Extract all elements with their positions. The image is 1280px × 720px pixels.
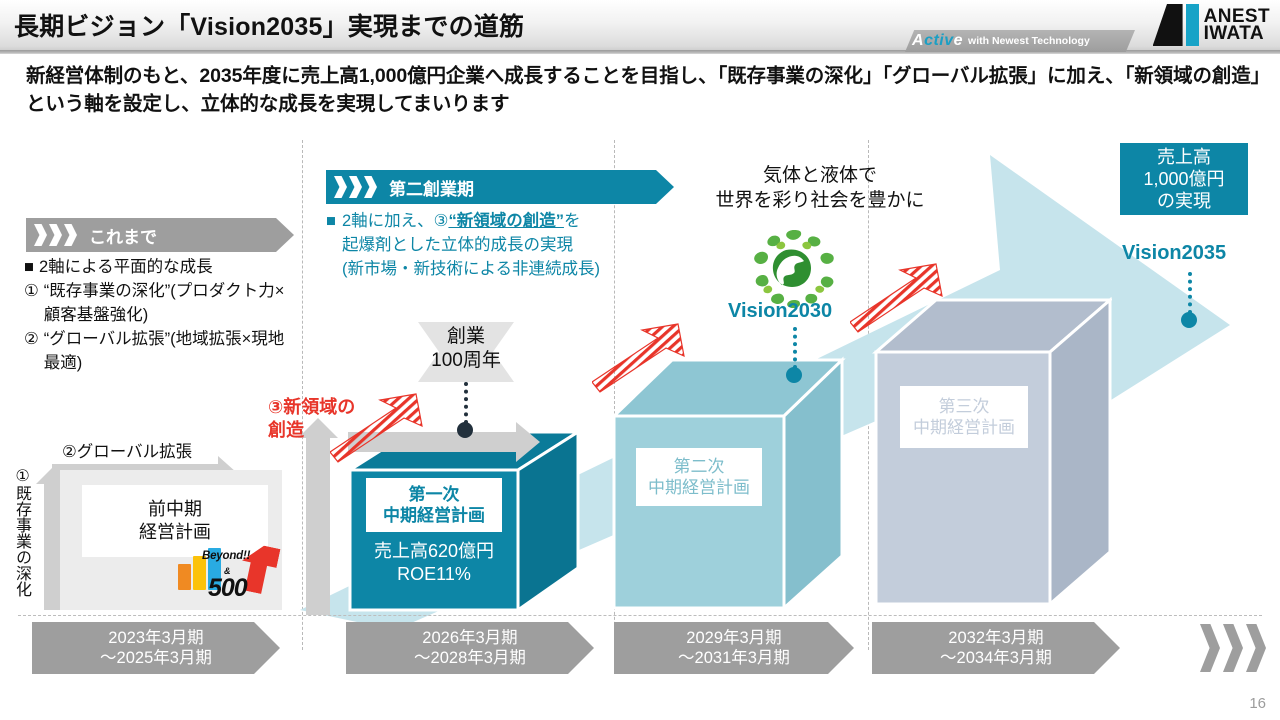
beyond500-number: 500 xyxy=(208,574,247,603)
tagline: Active with Newest Technology xyxy=(912,31,1132,51)
tagline-active-text: Active xyxy=(912,32,963,50)
bullet-mark: ■ xyxy=(326,210,336,282)
anniversary-callout: 創業 100周年 xyxy=(400,325,532,373)
page-title: 長期ビジョン「Vision2035」実現までの道筋 xyxy=(14,7,524,43)
bullet-text: “グローバル拡張”(地域拡張×現地最適) xyxy=(44,328,300,375)
future-bullet-line3: (新市場・新技術による非連続成長) xyxy=(342,260,600,278)
bullet-mark: ② xyxy=(24,328,39,375)
second-founding-banner: 第二創業期 xyxy=(326,170,674,204)
timeline-line2: ～2028年3月期 xyxy=(414,648,526,668)
slide-root: 長期ビジョン「Vision2035」実現までの道筋 Active with Ne… xyxy=(0,0,1280,720)
past-bullet-2: ② “グローバル拡張”(地域拡張×現地最適) xyxy=(24,328,300,375)
past-bullet-list: ■ 2軸による平面的な成長 ① “既存事業の深化”(プロダクト力×顧客基盤強化)… xyxy=(24,256,300,376)
plan1-roe: ROE11% xyxy=(397,564,471,584)
future-bullet-line1b: “新領域の創造” xyxy=(448,212,564,230)
new-domain-label: ③新領域の 創造 xyxy=(268,396,398,441)
anniversary-line2: 100周年 xyxy=(431,350,501,371)
timeline-line2: ～2034年3月期 xyxy=(940,648,1052,668)
new-domain-label-text: ③新領域の 創造 xyxy=(268,397,355,440)
new-domain-arrow-icon-2 xyxy=(592,322,686,394)
timeline-item-0: 2023年3月期 ～2025年3月期 xyxy=(32,622,280,674)
plan1-metrics: 売上高620億円 ROE11% xyxy=(346,540,522,587)
slide-subtitle: 新経営体制のもと、2035年度に売上高1,000億円企業へ成長することを目指し、… xyxy=(26,63,1266,118)
plan1-revenue: 売上高620億円 xyxy=(374,541,494,561)
previous-plan-line1: 前中期 xyxy=(148,498,202,521)
plan3-box: 第三次 中期経営計画 xyxy=(872,296,1112,612)
plan3-label: 第三次 中期経営計画 xyxy=(900,386,1028,448)
bullet-mark: ■ xyxy=(24,256,34,279)
slogan-text: 気体と液体で 世界を彩り社会を豊かに xyxy=(690,163,950,213)
previous-plan-line2: 経営計画 xyxy=(139,521,211,544)
bullet-text: 2軸による平面的な成長 xyxy=(39,256,300,279)
axis-growth-up-bar xyxy=(306,430,330,615)
timeline-line1: 2032年3月期 xyxy=(948,628,1043,648)
timeline-item-1: 2026年3月期 ～2028年3月期 xyxy=(346,622,594,674)
timeline-line1: 2023年3月期 xyxy=(108,628,203,648)
vision2035-dot xyxy=(1181,312,1197,328)
plan2-title-line1: 第二次 xyxy=(674,456,725,477)
past-era-banner: これまで xyxy=(26,218,294,252)
goal-badge: 売上高 1,000億円 の実現 xyxy=(1120,143,1248,215)
future-bullet-line1a: 2軸に加え、③ xyxy=(342,212,448,230)
future-bullet-line2: 起爆剤とした立体的成長の実現 xyxy=(342,236,573,254)
plan1-label: 第一次 中期経営計画 xyxy=(366,478,502,532)
bullet-mark: ① xyxy=(24,280,39,327)
plan2-title-line2: 中期経営計画 xyxy=(648,477,750,498)
timeline-item-3: 2032年3月期 ～2034年3月期 xyxy=(872,622,1120,674)
vision2030-label: Vision2030 xyxy=(728,300,832,323)
timeline-item-2: 2029年3月期 ～2031年3月期 xyxy=(614,622,854,674)
logo-text-line2: IWATA xyxy=(1204,25,1270,42)
plan3-title-line1: 第三次 xyxy=(939,396,990,417)
plan3-title-line2: 中期経営計画 xyxy=(913,417,1015,438)
second-founding-bullets: ■ 2軸に加え、③“新領域の創造”を 起爆剤とした立体的成長の実現 (新市場・新… xyxy=(326,210,694,282)
anniversary-dot xyxy=(457,422,473,438)
second-founding-label: 第二創業期 xyxy=(389,175,474,200)
past-bullet-1: ① “既存事業の深化”(プロダクト力×顧客基盤強化) xyxy=(24,280,300,327)
beyond500-text: Beyond!! xyxy=(202,550,250,562)
banner-chevrons-icon xyxy=(334,176,377,198)
new-domain-arrow-icon-3 xyxy=(850,262,944,334)
tagline-sub-text: with Newest Technology xyxy=(968,35,1090,47)
banner-chevrons-icon xyxy=(34,224,77,246)
slogan-line2: 世界を彩り社会を豊かに xyxy=(715,190,924,211)
vision2030-dot xyxy=(786,367,802,383)
vision2035-connector xyxy=(1188,272,1192,314)
goal-line1: 売上高 xyxy=(1157,146,1211,168)
plan1-title-line2: 中期経営計画 xyxy=(383,505,485,526)
vision2030-connector xyxy=(793,327,797,369)
anniversary-connector xyxy=(464,382,468,424)
logo-mark-icon xyxy=(1153,4,1199,46)
anest-iwata-logo: ANEST IWATA xyxy=(1153,3,1270,47)
axis-vertical-label: ①既存事業の深化 xyxy=(4,466,30,597)
plan2-label: 第二次 中期経営計画 xyxy=(636,448,762,506)
goal-line3: の実現 xyxy=(1157,190,1211,212)
beyond500-badge: Beyond!! & 500 xyxy=(176,546,272,604)
timeline-line1: 2026年3月期 xyxy=(422,628,517,648)
timeline-line2: ～2025年3月期 xyxy=(100,648,212,668)
axis-vertical-bar xyxy=(44,478,60,610)
vision2035-label: Vision2035 xyxy=(1122,242,1226,265)
timeline-line2: ～2031年3月期 xyxy=(678,648,790,668)
green-globe-icon xyxy=(750,228,838,308)
axis-horizontal-label: ②グローバル拡張 xyxy=(62,438,192,462)
anniversary-line1: 創業 xyxy=(447,326,485,347)
timeline-divider xyxy=(18,615,1262,616)
plan1-title-line1: 第一次 xyxy=(409,484,460,505)
plan2-box: 第二次 中期経営計画 xyxy=(610,356,846,612)
goal-line2: 1,000億円 xyxy=(1143,168,1224,190)
slogan-line1: 気体と液体で xyxy=(763,165,877,186)
page-number: 16 xyxy=(1249,695,1266,712)
future-bullet-line1c: を xyxy=(564,212,581,230)
timeline-line1: 2029年3月期 xyxy=(686,628,781,648)
bullet-text: “既存事業の深化”(プロダクト力×顧客基盤強化) xyxy=(44,280,300,327)
timeline-chevrons-icon xyxy=(1200,624,1266,672)
past-bullet-0: ■ 2軸による平面的な成長 xyxy=(24,256,300,279)
past-era-label: これまで xyxy=(89,223,157,248)
